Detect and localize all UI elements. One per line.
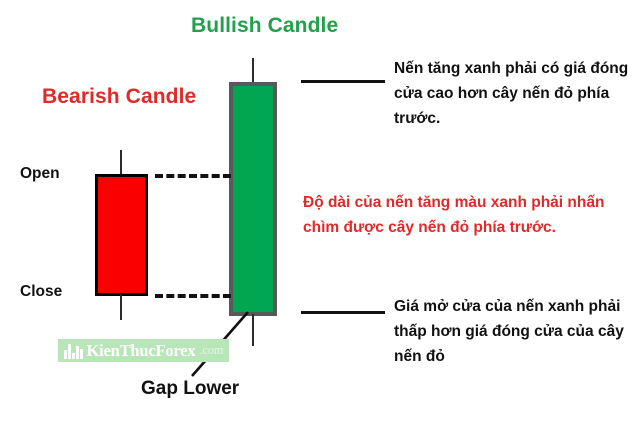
bearish-candle-title: Bearish Candle — [42, 85, 196, 109]
bullish-candle-upper-wick — [252, 58, 254, 85]
close-price-label: Close — [20, 283, 62, 301]
candlestick-diagram: Bullish Candle Bearish Candle Open Close… — [0, 0, 637, 423]
bullish-candle-title: Bullish Candle — [191, 14, 338, 38]
candlestick-logo-icon — [64, 343, 83, 359]
watermark-tld: .com — [199, 343, 223, 358]
watermark: KienThucForex .com — [58, 339, 229, 362]
bearish-candle-upper-wick — [120, 150, 122, 176]
note-close-higher: Nến tăng xanh phải có giá đóng cửa cao h… — [394, 56, 632, 131]
bottom-note-leader-line — [301, 311, 385, 314]
note-open-lower: Giá mở cửa của nến xanh phải thấp hơn gi… — [394, 294, 632, 369]
bullish-candle-body — [229, 82, 277, 316]
close-level-dashed-line — [155, 294, 231, 298]
top-note-leader-line — [301, 80, 385, 83]
bearish-candle-lower-wick — [120, 294, 122, 320]
note-engulfing-length: Độ dài của nến tăng màu xanh phải nhấn c… — [303, 190, 633, 240]
open-price-label: Open — [20, 165, 60, 183]
bearish-candle-body — [95, 174, 148, 296]
bullish-candle-lower-wick — [252, 314, 254, 346]
gap-lower-label: Gap Lower — [141, 378, 239, 400]
watermark-site-name: KienThucForex — [87, 341, 196, 361]
open-level-dashed-line — [155, 174, 231, 178]
